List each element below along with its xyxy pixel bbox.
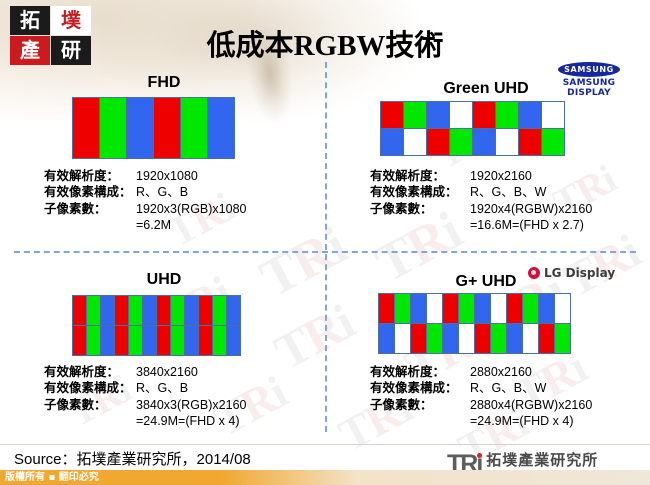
tri-dot-icon [477,453,482,458]
subpixel-b [227,326,240,355]
subpixel-r [73,296,86,325]
spec-row-resolution: 有效解析度：3840x2160 [44,364,246,380]
subpixel-g [542,129,564,155]
lg-display-text: LG Display [544,266,615,280]
subpixel-g [523,294,538,323]
subpixel-r [199,296,212,325]
lg-mark-icon [528,267,540,279]
subpixel-b [143,296,156,325]
subpixel-b [227,296,240,325]
subpixel-b [475,294,490,323]
slide-canvas: TRiTRiTRiTRiTRiTRiTRiTRiTRiTRiTRiTRiTRiT… [0,0,650,485]
spec-label-resolution: 有效解析度： [370,168,470,184]
spec-value-subpixel-total-fhd: =6.2M [136,217,171,233]
spec-value-pixel-makeup-uhd: R、G、B [136,380,188,396]
subpixel-b [381,129,403,155]
subpixel-g [459,294,474,323]
subpixel-g [181,98,207,158]
pixel-matrix-green-uhd [380,101,565,156]
subpixel-r [379,294,394,323]
spec-row-subpixel-total: =24.9M=(FHD x 4) [44,413,246,429]
watermark-text: TRi [250,214,356,310]
spec-row-pixel-makeup: 有效像素構成：R、G、B [44,380,246,396]
subpixel-r [519,129,541,155]
subpixel-g [87,326,100,355]
spec-row-resolution: 有效解析度：1920x1080 [44,168,246,184]
subpixel-b [427,102,449,128]
spec-row-subpixel-total: =24.9M=(FHD x 4) [370,413,592,429]
subpixel-g [171,296,184,325]
subpixel-b [143,326,156,355]
spec-value-subpixel-count-uhd: 3840x3(RGB)x2160 [136,397,246,413]
subpixel-w [496,129,518,155]
pixel-row [157,326,240,355]
subpixel-g [491,324,506,353]
pixel-group [154,98,234,158]
pixel-group [157,296,240,355]
subpixel-b [519,102,541,128]
spec-value-subpixel-count-green-uhd: 1920x4(RGBW)x2160 [470,201,592,217]
slide-title: 低成本RGBW技術 [0,22,650,64]
subpixel-g [213,326,226,355]
subpixel-w [395,324,410,353]
spec-value-subpixel-total-green-uhd: =16.6M=(FHD x 2.7) [470,217,584,233]
subpixel-g [171,326,184,355]
subpixel-r [443,294,458,323]
pixel-row [73,98,153,158]
spec-label-subpixel-count: 子像素數： [44,397,136,413]
pixel-row [379,294,474,323]
spec-block-g-plus-uhd: 有效解析度：2880x2160有效像素構成：R、G、B、W子像素數：2880x4… [370,364,592,429]
subpixel-w [555,294,570,323]
subpixel-g [213,296,226,325]
pixel-row [475,324,570,353]
pixel-row [154,98,234,158]
subpixel-r [507,294,522,323]
vertical-divider [325,62,327,432]
subpixel-r [73,98,99,158]
spec-label-subpixel-count: 子像素數： [44,201,136,217]
subpixel-g [395,294,410,323]
subpixel-b [185,296,198,325]
subpixel-b [411,294,426,323]
tri-chinese-name: 拓墣產業研究所 [486,454,603,469]
pixel-row [379,324,474,353]
subpixel-g [555,324,570,353]
samsung-wordmark: SAMSUNG [558,62,620,77]
subpixel-w [450,102,472,128]
spec-row-subpixel-count: 子像素數：1920x4(RGBW)x2160 [370,201,592,217]
spec-label-resolution: 有效解析度： [44,364,136,380]
pixel-row [157,296,240,325]
pixel-row [73,326,156,355]
spec-block-uhd: 有效解析度：3840x2160有效像素構成：R、G、B子像素數：3840x3(R… [44,364,246,429]
subpixel-w [404,129,426,155]
lg-display-logo: LG Display [528,266,615,280]
footer-rule [0,444,650,445]
subpixel-b [507,324,522,353]
spec-label-resolution: 有效解析度： [44,168,136,184]
pixel-row [473,102,564,128]
spec-row-subpixel-total: =16.6M=(FHD x 2.7) [370,217,592,233]
pixel-group [73,296,156,355]
spec-row-subpixel-count: 子像素數：2880x4(RGBW)x2160 [370,397,592,413]
spec-value-pixel-makeup-g-plus-uhd: R、G、B、W [470,380,546,396]
samsung-display-text: SAMSUNG DISPLAY [541,78,637,98]
pixel-matrix-fhd [72,97,235,159]
subpixel-w [491,294,506,323]
spec-block-fhd: 有效解析度：1920x1080有效像素構成：R、G、B子像素數：1920x3(R… [44,168,246,233]
subpixel-g [100,98,126,158]
spec-row-subpixel-total: =6.2M [44,217,246,233]
subpixel-b [185,326,198,355]
spec-value-pixel-makeup-fhd: R、G、B [136,184,188,200]
subpixel-w [427,294,442,323]
spec-label-pixel-makeup: 有效像素構成： [370,380,470,396]
spec-value-resolution-fhd: 1920x1080 [136,168,198,184]
horizontal-divider [14,251,636,253]
subpixel-b [443,324,458,353]
subpixel-b [127,98,153,158]
subpixel-w [542,102,564,128]
pixel-row [381,129,472,155]
subpixel-b [539,294,554,323]
pixel-group [379,294,474,353]
spec-label-subpixel-count: 子像素數： [370,201,470,217]
spec-row-subpixel-count: 子像素數：1920x3(RGB)x1080 [44,201,246,217]
subpixel-g [129,296,142,325]
spec-row-resolution: 有效解析度：1920x2160 [370,168,592,184]
spec-row-pixel-makeup: 有效像素構成：R、G、B、W [370,184,592,200]
subpixel-g [450,129,472,155]
spec-row-resolution: 有效解析度：2880x2160 [370,364,592,380]
copyright-text: 版權所有 ▪ 翻印必究 [5,470,99,485]
spec-value-subpixel-count-fhd: 1920x3(RGB)x1080 [136,201,246,217]
subpixel-r [473,102,495,128]
subpixel-r [539,324,554,353]
subpixel-b [208,98,234,158]
pixel-group [73,98,153,158]
subpixel-r [157,326,170,355]
subpixel-r [154,98,180,158]
spec-value-pixel-makeup-green-uhd: R、G、B、W [470,184,546,200]
pixel-group [475,294,570,353]
pixel-row [73,296,156,325]
spec-row-pixel-makeup: 有效像素構成：R、G、B、W [370,380,592,396]
spec-label-pixel-makeup: 有效像素構成： [44,380,136,396]
quadrant-title-fhd: FHD [14,74,314,92]
subpixel-g [404,102,426,128]
subpixel-b [473,129,495,155]
subpixel-r [427,129,449,155]
subpixel-r [115,326,128,355]
spec-value-resolution-green-uhd: 1920x2160 [470,168,532,184]
subpixel-g [427,324,442,353]
watermark-text: TRi [265,292,363,381]
spec-label-pixel-makeup: 有效像素構成： [44,184,136,200]
pixel-group [473,102,564,155]
spec-label-subpixel-count: 子像素數： [370,397,470,413]
spec-label-resolution: 有效解析度： [370,364,470,380]
pixel-row [475,294,570,323]
pixel-row [473,129,564,155]
subpixel-r [157,296,170,325]
spec-row-pixel-makeup: 有效像素構成：R、G、B [44,184,246,200]
subpixel-w [459,324,474,353]
subpixel-g [496,102,518,128]
subpixel-r [411,324,426,353]
samsung-display-logo: SAMSUNG SAMSUNG DISPLAY [541,62,637,98]
quadrant-title-uhd: UHD [14,271,314,289]
subpixel-r [475,324,490,353]
subpixel-g [129,326,142,355]
subpixel-w [523,324,538,353]
spec-value-subpixel-total-g-plus-uhd: =24.9M=(FHD x 4) [470,413,574,429]
spec-block-green-uhd: 有效解析度：1920x2160有效像素構成：R、G、B、W子像素數：1920x4… [370,168,592,233]
spec-label-pixel-makeup: 有效像素構成： [370,184,470,200]
pixel-matrix-g-plus-uhd [378,293,571,354]
subpixel-r [115,296,128,325]
pixel-group [381,102,472,155]
subpixel-g [87,296,100,325]
source-line: Source：拓墣產業研究所，2014/08 [14,448,251,469]
subpixel-b [101,296,114,325]
subpixel-b [101,326,114,355]
pixel-row [381,102,472,128]
spec-value-resolution-g-plus-uhd: 2880x2160 [470,364,532,380]
spec-value-subpixel-count-g-plus-uhd: 2880x4(RGBW)x2160 [470,397,592,413]
subpixel-r [73,326,86,355]
spec-row-subpixel-count: 子像素數：3840x3(RGB)x2160 [44,397,246,413]
subpixel-r [199,326,212,355]
subpixel-b [379,324,394,353]
pixel-matrix-uhd [72,295,241,356]
spec-value-resolution-uhd: 3840x2160 [136,364,198,380]
spec-value-subpixel-total-uhd: =24.9M=(FHD x 4) [136,413,240,429]
subpixel-r [381,102,403,128]
